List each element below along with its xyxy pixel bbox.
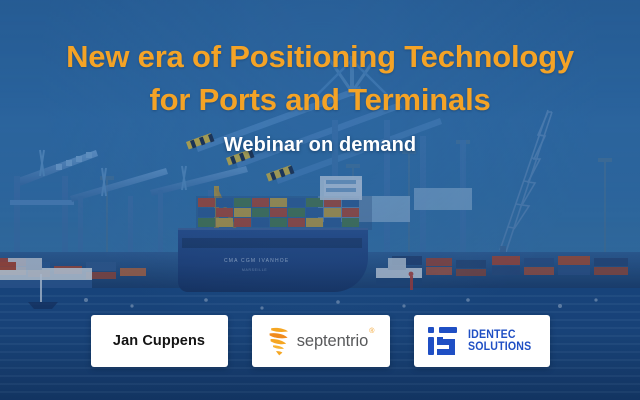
septentrio-trademark: ® — [369, 328, 374, 335]
subtitle: Webinar on demand — [0, 134, 640, 157]
ship-hull-band — [182, 238, 362, 248]
identec-wordmark-line-2: SOLUTIONS — [468, 341, 531, 353]
logo-card-row: Jan Cuppens septentrio® — [0, 315, 640, 367]
septentrio-beacon-glyph — [268, 326, 290, 356]
ship-port-text: MARSEILLE — [242, 268, 267, 272]
headline-line-1: New era of Positioning Technology — [66, 39, 574, 74]
septentrio-wordmark: septentrio® — [297, 332, 374, 351]
page-title: New era of Positioning Technology for Po… — [0, 36, 640, 122]
ship-name-text: CMA CGM IVANHOE — [224, 258, 289, 264]
headline-line-2: for Ports and Terminals — [149, 82, 490, 117]
identec-wordmark-line-1: IDENTEC — [468, 329, 531, 341]
identec-is-mark-glyph — [427, 325, 461, 357]
septentrio-beacon-icon — [268, 326, 290, 356]
webinar-title-slide: CMA CGM IVANHOE MARSEILLE New era of Pos… — [0, 0, 640, 400]
speaker-name-label: Jan Cuppens — [113, 333, 205, 349]
speaker-name-card[interactable]: Jan Cuppens — [91, 315, 228, 367]
container-ship-hull: CMA CGM IVANHOE MARSEILLE — [178, 228, 368, 292]
title-text-block: New era of Positioning Technology for Po… — [0, 36, 640, 157]
identec-solutions-logo-card[interactable]: IDENTEC SOLUTIONS — [414, 315, 550, 367]
identec-is-mark-icon — [427, 325, 461, 357]
identec-wordmark: IDENTEC SOLUTIONS — [468, 329, 531, 353]
septentrio-logo-card[interactable]: septentrio® — [252, 315, 390, 367]
